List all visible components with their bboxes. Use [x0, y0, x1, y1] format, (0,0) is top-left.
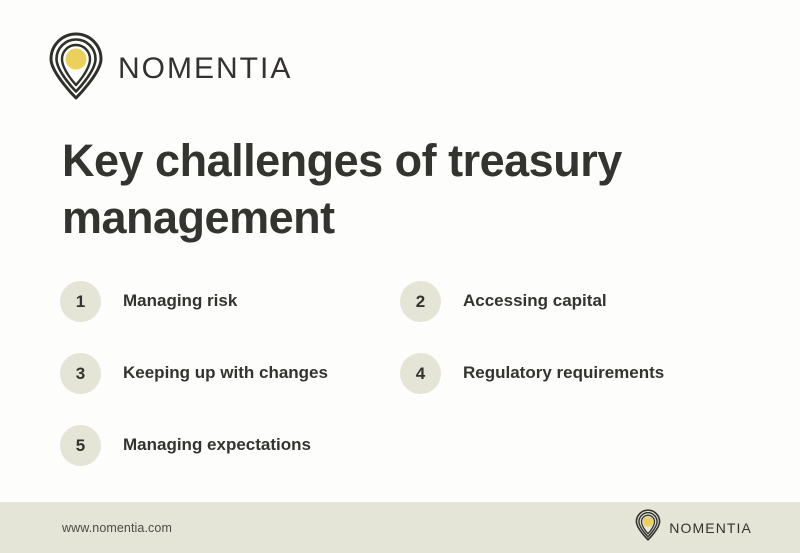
- nomentia-pin-logo-icon: [635, 509, 661, 546]
- list-item: 5 Managing expectations: [60, 422, 400, 468]
- brand-header: NOMENTIA: [48, 32, 292, 105]
- list-item: 1 Managing risk: [60, 278, 400, 324]
- footer-brand: NOMENTIA: [635, 509, 752, 546]
- challenge-label: Managing expectations: [123, 435, 311, 455]
- challenge-number-badge: 3: [60, 353, 101, 394]
- challenge-label: Keeping up with changes: [123, 363, 328, 383]
- page-title: Key challenges of treasury management: [62, 133, 702, 246]
- challenge-label: Accessing capital: [463, 291, 607, 311]
- footer-brand-wordmark: NOMENTIA: [669, 521, 752, 535]
- challenge-label: Regulatory requirements: [463, 363, 664, 383]
- challenge-number-badge: 4: [400, 353, 441, 394]
- infographic-page: NOMENTIA Key challenges of treasury mana…: [0, 0, 800, 553]
- list-item: 4 Regulatory requirements: [400, 350, 740, 396]
- footer-website-url: www.nomentia.com: [62, 521, 172, 535]
- challenge-label: Managing risk: [123, 291, 237, 311]
- footer-bar: www.nomentia.com NOMENTIA: [0, 502, 800, 553]
- challenge-number-badge: 5: [60, 425, 101, 466]
- list-item: 3 Keeping up with changes: [60, 350, 400, 396]
- challenge-number-badge: 2: [400, 281, 441, 322]
- nomentia-pin-logo-icon: [48, 32, 104, 105]
- challenge-list: 1 Managing risk 2 Accessing capital 3 Ke…: [60, 278, 740, 494]
- challenge-number-badge: 1: [60, 281, 101, 322]
- list-item: 2 Accessing capital: [400, 278, 740, 324]
- brand-wordmark: NOMENTIA: [118, 54, 292, 84]
